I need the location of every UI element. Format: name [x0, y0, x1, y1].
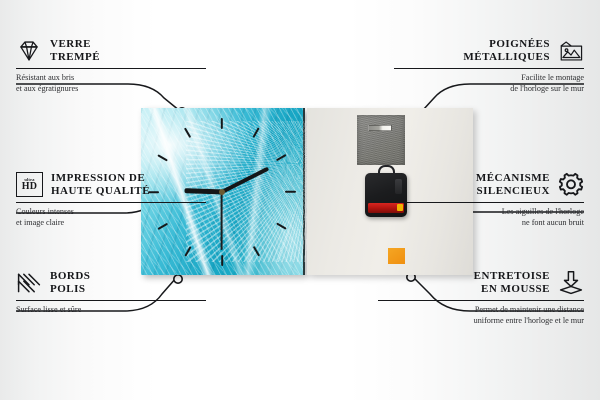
- callout-verre-trempe: VERRETREMPÉ Résistant aux briset aux égr…: [16, 38, 206, 95]
- clock-tick: [276, 153, 287, 161]
- clock-minute-hand: [221, 166, 269, 193]
- ultra-hd-main-text: HD: [22, 182, 38, 192]
- callout-subtitle: Surface lisse et sûre: [16, 305, 206, 316]
- callout-poignees-metalliques: POIGNÉESMÉTALLIQUES Facilite le montaged…: [394, 38, 584, 95]
- callout-mecanisme-silencieux: MÉCANISMESILENCIEUX Les aiguilles de l'h…: [394, 172, 584, 229]
- callout-subtitle: Permet de maintenir une distanceuniforme…: [378, 305, 584, 327]
- hanger-slot: [368, 125, 392, 131]
- callout-title: MÉCANISMESILENCIEUX: [476, 172, 550, 198]
- callout-title: IMPRESSION DEHAUTE QUALITÉ: [51, 172, 150, 198]
- ultra-hd-icon: ultra HD: [16, 172, 43, 197]
- callout-subtitle: Couleurs intenseset image claire: [16, 207, 206, 229]
- infographic-canvas: VERRETREMPÉ Résistant aux briset aux égr…: [0, 0, 600, 400]
- callout-title: ENTRETOISEEN MOUSSE: [474, 270, 550, 296]
- wall-frame-hanger-icon: [558, 38, 584, 64]
- callout-impression-haute-qualite: ultra HD IMPRESSION DEHAUTE QUALITÉ Coul…: [16, 172, 206, 229]
- foam-spacer-pad: [388, 248, 405, 264]
- gear-icon: [558, 172, 584, 198]
- callout-title: POIGNÉESMÉTALLIQUES: [463, 38, 550, 64]
- callout-rule: [378, 300, 584, 301]
- callout-rule: [16, 300, 206, 301]
- metal-hanger-plate: [357, 115, 405, 165]
- clock-tick: [252, 127, 260, 138]
- clock-tick: [276, 222, 287, 230]
- clock-tick: [285, 190, 296, 192]
- callout-rule: [16, 202, 206, 203]
- callout-title: BORDSPOLIS: [50, 270, 90, 296]
- callout-bords-polis: BORDSPOLIS Surface lisse et sûre: [16, 270, 206, 316]
- mechanism-hanger-loop: [378, 165, 395, 176]
- callout-rule: [394, 202, 584, 203]
- clock-tick: [157, 153, 168, 161]
- clock-tick: [252, 245, 260, 256]
- polished-edges-icon: [16, 270, 42, 296]
- callout-subtitle: Résistant aux briset aux égratignures: [16, 73, 206, 95]
- callout-subtitle: Les aiguilles de l'horlogene font aucun …: [394, 207, 584, 229]
- callout-title: VERRETREMPÉ: [50, 38, 100, 64]
- diamond-icon: [16, 38, 42, 64]
- clock-tick: [184, 127, 192, 138]
- callout-entretoise-en-mousse: ENTRETOISEEN MOUSSE Permet de maintenir …: [378, 270, 584, 327]
- callout-rule: [394, 68, 584, 69]
- clock-second-hand: [221, 192, 223, 250]
- clock-tick: [184, 245, 192, 256]
- callout-subtitle: Facilite le montagede l'horloge sur le m…: [394, 73, 584, 95]
- clock-tick: [221, 118, 223, 129]
- callout-rule: [16, 68, 206, 69]
- clock-center-cap: [219, 189, 225, 195]
- clock-tick: [221, 255, 223, 266]
- foam-spacer-arrow-icon: [558, 270, 584, 296]
